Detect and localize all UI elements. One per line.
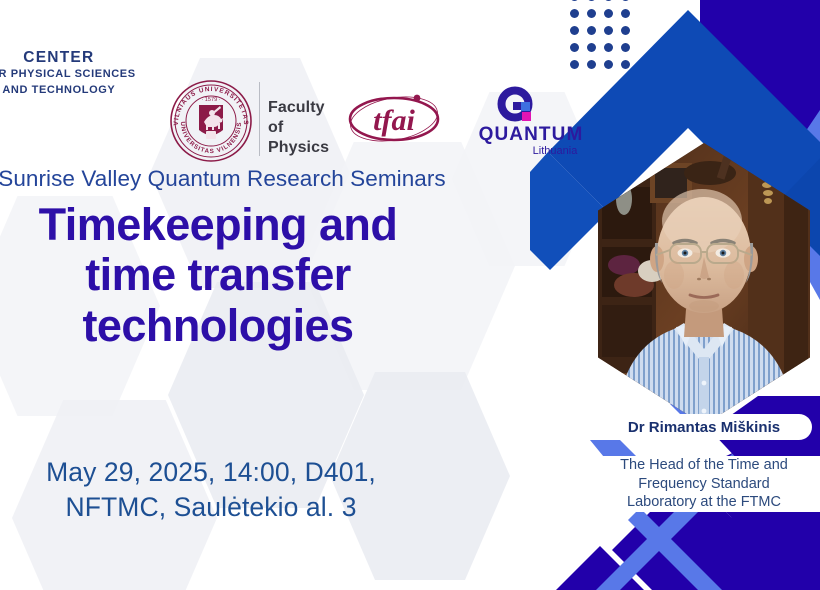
ftmc-line-2a: FOR PHYSICAL SCIENCES bbox=[0, 67, 136, 82]
faculty-line-2: Physics bbox=[268, 138, 329, 158]
ftmc-line-2b: AND TECHNOLOGY bbox=[0, 83, 136, 98]
speaker-name: Dr Rimantas Miškinis bbox=[628, 419, 780, 436]
grid-dot bbox=[604, 9, 613, 18]
speaker-name-badge: Dr Rimantas Miškinis bbox=[596, 414, 812, 440]
faculty-line-1: Faculty of bbox=[268, 98, 329, 138]
speaker-role-line-1: The Head of the Time and bbox=[588, 456, 820, 475]
quantum-sub: Lithuania bbox=[533, 145, 579, 157]
grid-dot bbox=[570, 26, 579, 35]
grid-dot bbox=[621, 60, 630, 69]
grid-dot bbox=[604, 26, 613, 35]
logo-divider bbox=[259, 82, 260, 156]
grid-dot bbox=[621, 0, 630, 1]
grid-dot bbox=[587, 9, 596, 18]
speaker-role-line-3: Laboratory at the FTMC bbox=[588, 493, 820, 512]
dot-grid-decoration bbox=[570, 0, 638, 77]
tfai-wordmark: tfai bbox=[373, 104, 415, 137]
logo-tfai: tfai bbox=[345, 88, 443, 146]
grid-dot bbox=[570, 60, 579, 69]
quantum-wordmark: QUANTUM bbox=[479, 124, 584, 145]
grid-dot bbox=[570, 43, 579, 52]
grid-dot bbox=[621, 9, 630, 18]
when-line-1: May 29, 2025, 14:00, D401, bbox=[0, 455, 446, 490]
grid-dot bbox=[604, 0, 613, 1]
grid-dot bbox=[621, 26, 630, 35]
when-line-2: NFTMC, Saulėtekio al. 3 bbox=[0, 490, 446, 525]
speaker-role: The Head of the Time and Frequency Stand… bbox=[588, 456, 820, 512]
ftmc-line-1: CENTER bbox=[0, 48, 136, 67]
grid-dot bbox=[587, 0, 596, 1]
grid-dot bbox=[621, 43, 630, 52]
logo-quantum-lithuania: QUANTUM Lithuania bbox=[477, 84, 585, 160]
speaker-role-line-2: Frequency Standard bbox=[588, 475, 820, 494]
grid-dot bbox=[587, 60, 596, 69]
logo-faculty-of-physics: Faculty of Physics bbox=[268, 98, 329, 158]
page-title: Timekeeping and time transfer technologi… bbox=[0, 200, 478, 351]
logo-ftmc: CENTER FOR PHYSICAL SCIENCES AND TECHNOL… bbox=[0, 48, 136, 98]
grid-dot bbox=[604, 43, 613, 52]
event-datetime-location: May 29, 2025, 14:00, D401, NFTMC, Saulėt… bbox=[0, 455, 446, 525]
title-line-1: Timekeeping and bbox=[0, 200, 478, 250]
grid-dot bbox=[587, 43, 596, 52]
grid-dot bbox=[587, 26, 596, 35]
seminar-series-kicker: Sunrise Valley Quantum Research Seminars bbox=[0, 166, 482, 192]
grid-dot bbox=[570, 9, 579, 18]
vu-seal-year: · 1579 · bbox=[201, 97, 220, 103]
seminar-poster: Dr Rimantas Miškinis The Head of the Tim… bbox=[0, 0, 820, 590]
logo-vilnius-university-seal: VILNIAUS UNIVERSITETAS UNIVERSITAS VILNE… bbox=[168, 78, 254, 164]
grid-dot bbox=[604, 60, 613, 69]
title-line-2: time transfer bbox=[0, 250, 478, 300]
grid-dot bbox=[570, 0, 579, 1]
title-line-3: technologies bbox=[0, 301, 478, 351]
